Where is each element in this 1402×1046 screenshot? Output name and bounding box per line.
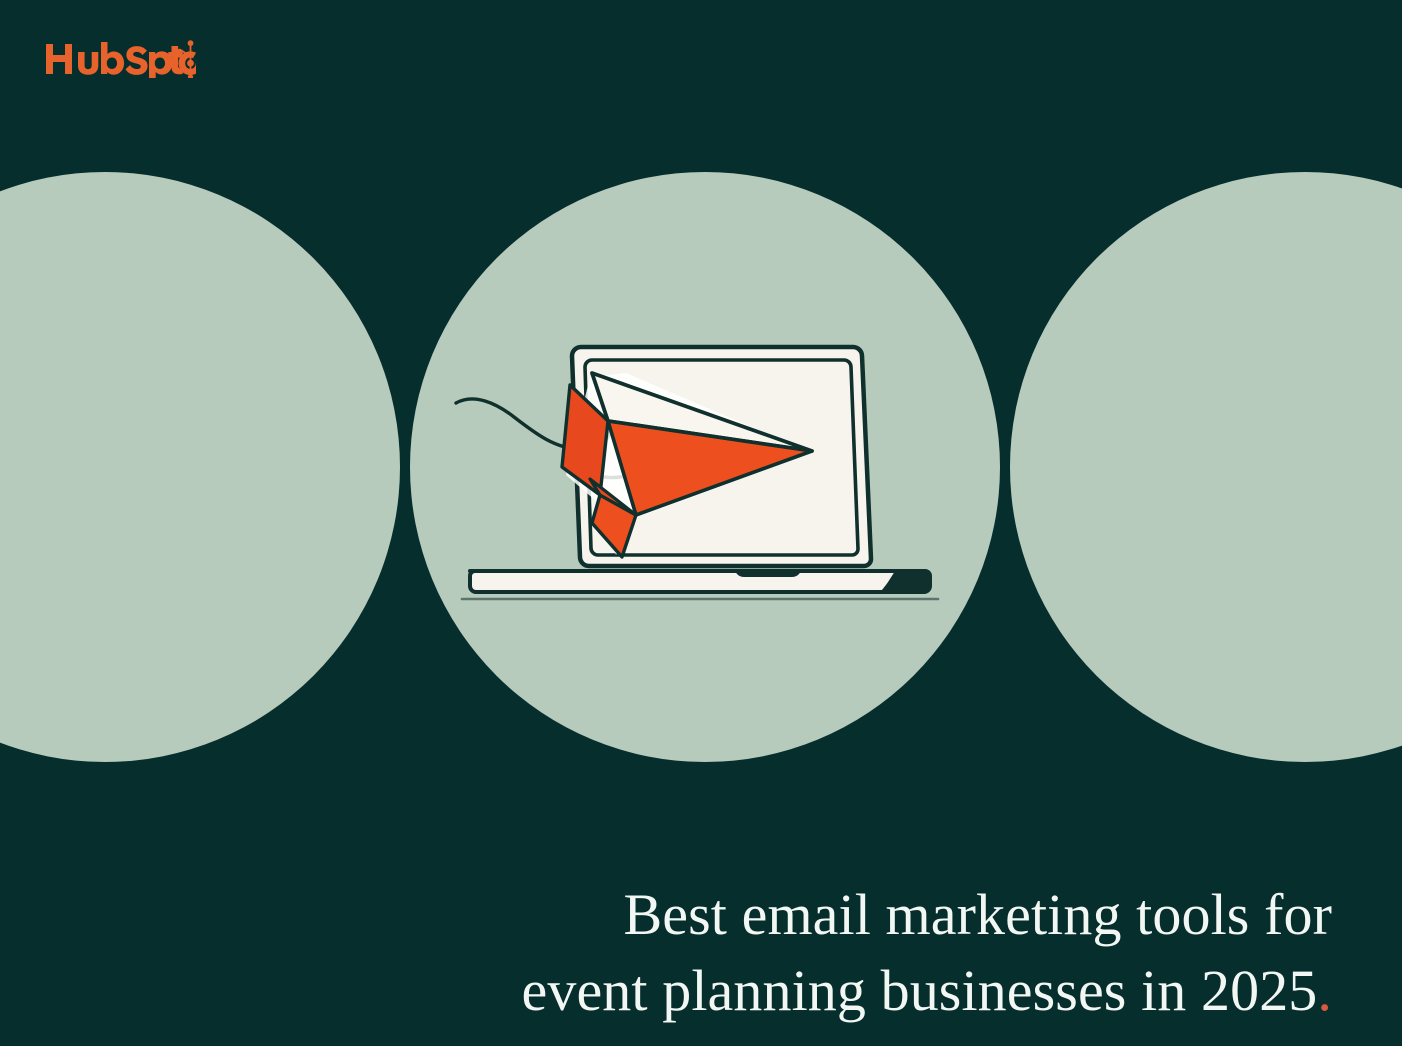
page-title: Best email marketing tools for event pla… (340, 877, 1332, 1029)
title-line-2-text: event planning businesses in 2025 (522, 958, 1318, 1023)
background-circle-right (1010, 172, 1402, 762)
slide-canvas: Best email marketing tools for event pla… (0, 0, 1402, 1046)
hubspot-logo[interactable] (44, 38, 196, 78)
laptop-base (462, 571, 938, 599)
laptop-with-paper-airplane-illustration (440, 325, 980, 625)
hubspot-wordmark-icon (44, 38, 196, 78)
title-line-2: event planning businesses in 2025. (340, 953, 1332, 1029)
title-line-1: Best email marketing tools for (340, 877, 1332, 953)
background-circle-left (0, 172, 400, 762)
title-accent-period: . (1317, 958, 1332, 1023)
